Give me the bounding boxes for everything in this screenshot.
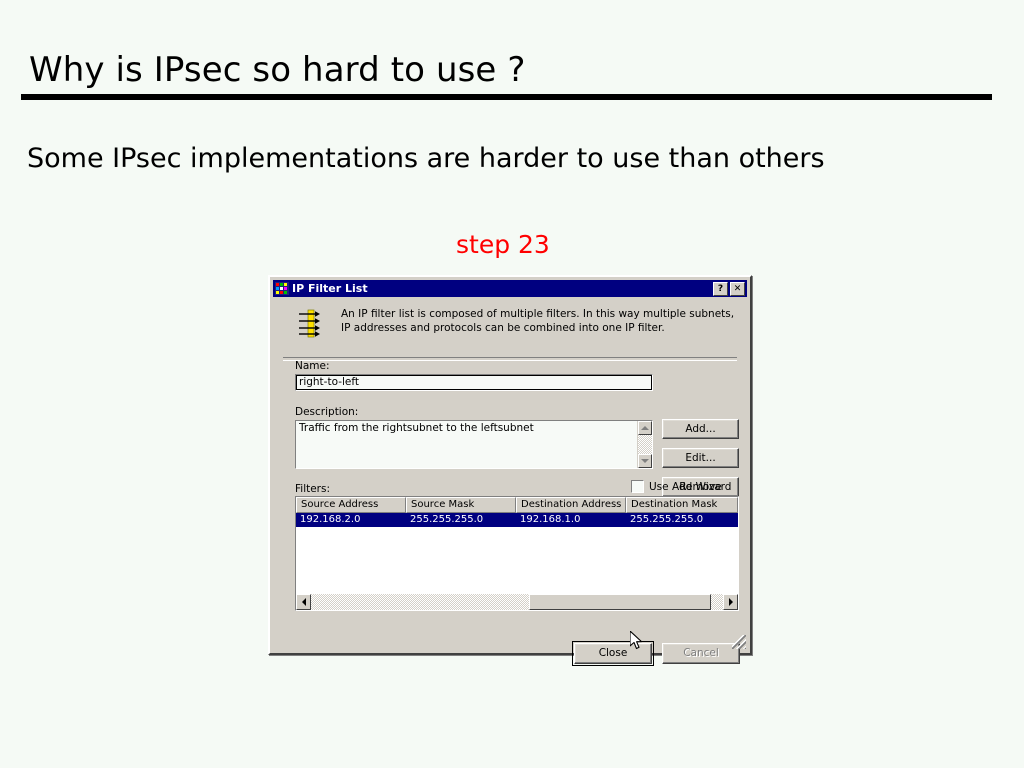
filters-scroll-track[interactable] [311,594,723,610]
dialog-titlebar[interactable]: IP Filter List ? ✕ [273,280,747,297]
dialog-inner-frame: IP Filter List ? ✕ [270,277,750,653]
scroll-left-arrow-icon[interactable] [296,594,311,610]
dialog-info-row: An IP filter list is composed of multipl… [285,307,737,353]
use-add-wizard-checkbox[interactable] [631,480,644,493]
filters-list[interactable]: Source AddressSource MaskDestination Add… [295,496,739,611]
close-button[interactable]: Close [574,643,652,664]
step-label: step 23 [456,230,550,259]
description-label: Description: [295,406,358,418]
edit-button[interactable]: Edit... [662,448,739,468]
help-button[interactable]: ? [713,282,728,296]
table-row[interactable]: 192.168.2.0255.255.255.0192.168.1.0255.2… [296,513,738,527]
column-header[interactable]: Destination Mask [626,497,738,513]
table-cell: 192.168.1.0 [516,513,626,527]
description-vertical-scrollbar[interactable] [637,421,652,468]
close-icon[interactable]: ✕ [730,282,745,296]
cancel-button: Cancel [662,643,740,664]
ip-filter-list-dialog: IP Filter List ? ✕ [268,275,752,655]
use-add-wizard-checkbox-row[interactable]: Use Add Wizard [631,480,731,493]
ip-filter-list-icon [275,282,289,295]
scroll-up-arrow-icon[interactable] [638,421,652,435]
table-cell: 255.255.255.0 [406,513,516,527]
dialog-title: IP Filter List [292,282,711,295]
page-title: Why is IPsec so hard to use ? [29,50,525,90]
filters-label: Filters: [295,483,330,495]
resize-grip[interactable] [732,635,746,649]
filter-arrows-icon [297,309,323,339]
add-button[interactable]: Add... [662,419,739,439]
filters-list-header: Source AddressSource MaskDestination Add… [296,497,738,513]
filters-list-rows[interactable]: 192.168.2.0255.255.255.0192.168.1.0255.2… [296,513,738,527]
scroll-right-arrow-icon[interactable] [723,594,738,610]
column-header[interactable]: Source Address [296,497,406,513]
dialog-info-text: An IP filter list is composed of multipl… [341,307,737,335]
scroll-down-arrow-icon[interactable] [638,454,652,468]
description-value: Traffic from the rightsubnet to the left… [299,422,635,435]
filters-scroll-thumb[interactable] [529,594,710,610]
table-cell: 192.168.2.0 [296,513,406,527]
slide-subtitle: Some IPsec implementations are harder to… [27,143,825,174]
filters-horizontal-scrollbar[interactable] [296,594,738,610]
use-add-wizard-label: Use Add Wizard [649,481,731,493]
title-divider [21,94,992,100]
description-textarea[interactable]: Traffic from the rightsubnet to the left… [295,420,653,469]
info-separator [283,357,737,361]
name-label: Name: [295,360,330,372]
name-input[interactable]: right-to-left [295,374,653,391]
table-cell: 255.255.255.0 [626,513,738,527]
column-header[interactable]: Source Mask [406,497,516,513]
dialog-body: An IP filter list is composed of multipl… [273,299,747,650]
column-header[interactable]: Destination Address [516,497,626,513]
description-scroll-track[interactable] [638,435,652,454]
